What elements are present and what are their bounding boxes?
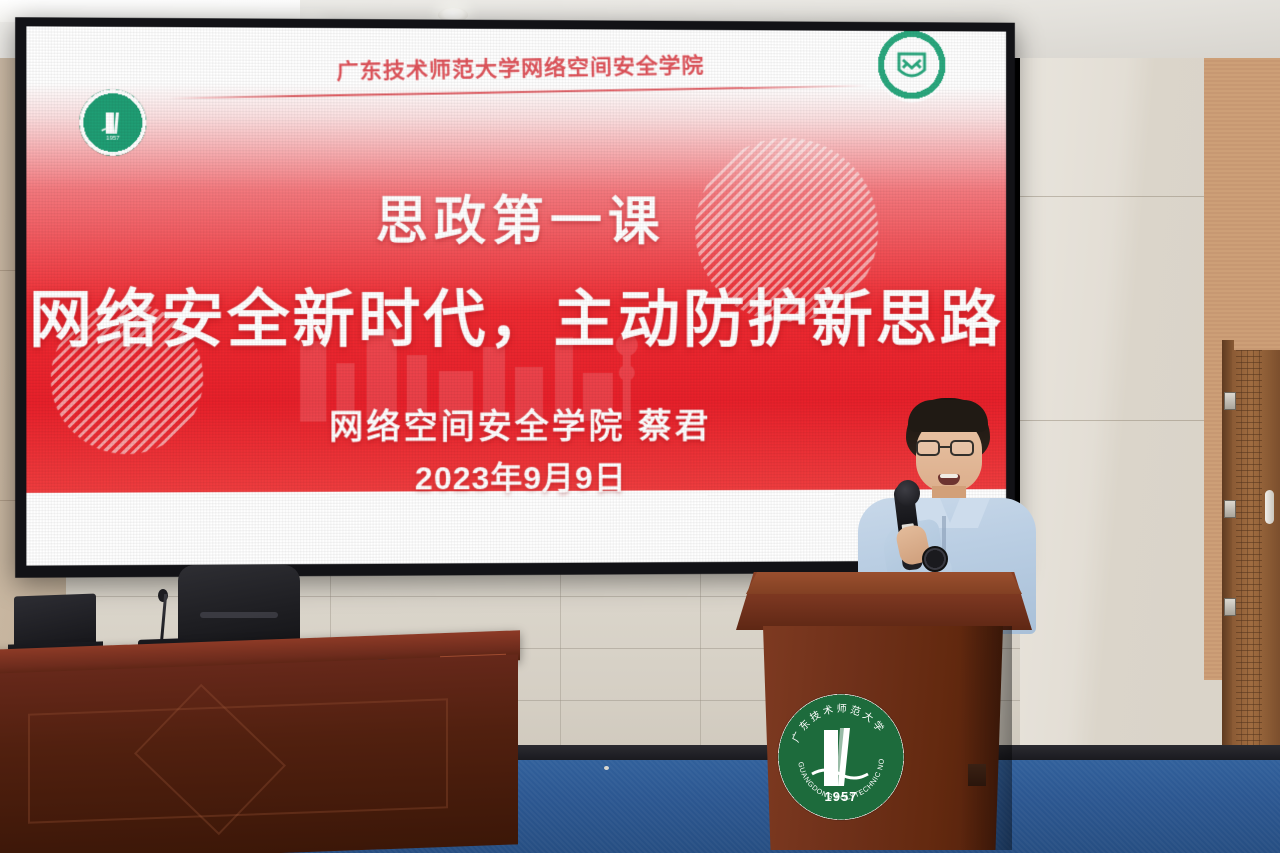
perforated-acoustic-panel (1236, 350, 1262, 770)
door-hinge-icon (1224, 392, 1236, 410)
floor-speck (604, 766, 609, 770)
door-hinge-icon (1224, 598, 1236, 616)
emblem-year: 1957 (778, 789, 904, 804)
wall-panel-seam (1020, 420, 1206, 421)
wristwatch-icon (922, 546, 948, 572)
podium-latch-plate (968, 764, 986, 786)
mouth (938, 474, 960, 485)
slide-header-text: 广东技术师范大学网络空间安全学院 (336, 48, 704, 86)
lecture-hall-scene: 广东技术师范大学网络空间安全学院 1957 (0, 0, 1280, 853)
podium-shadow (960, 626, 1012, 850)
door-hinge-icon (1224, 500, 1236, 518)
university-seal-logo-icon: 1957 (79, 89, 146, 156)
door-handle[interactable] (1265, 490, 1274, 524)
svg-text:广东技术师范大学: 广东技术师范大学 (790, 702, 889, 744)
cyber-security-school-logo-icon (874, 27, 949, 103)
wall-panel-seam (1020, 196, 1206, 197)
glasses-bridge (940, 446, 952, 448)
slide-title: 思政第一课 (26, 178, 1006, 255)
glasses-left-lens-icon (916, 440, 940, 456)
wall-tile-seam (700, 560, 701, 750)
laptop-screen[interactable] (14, 594, 96, 649)
hair-fringe (908, 400, 988, 432)
svg-text:1957: 1957 (106, 136, 120, 142)
chair-backrest-ridge (200, 612, 278, 618)
slide-subtitle: 网络安全新时代，主动防护新思路 (26, 269, 1006, 360)
podium-top-face (746, 572, 1022, 594)
glasses-right-lens-icon (950, 440, 974, 456)
podium-university-emblem-icon: GUANGDONG POLYTECHNIC NORMAL UNIVERSITY … (778, 694, 904, 820)
wall-tile-seam (560, 560, 561, 750)
